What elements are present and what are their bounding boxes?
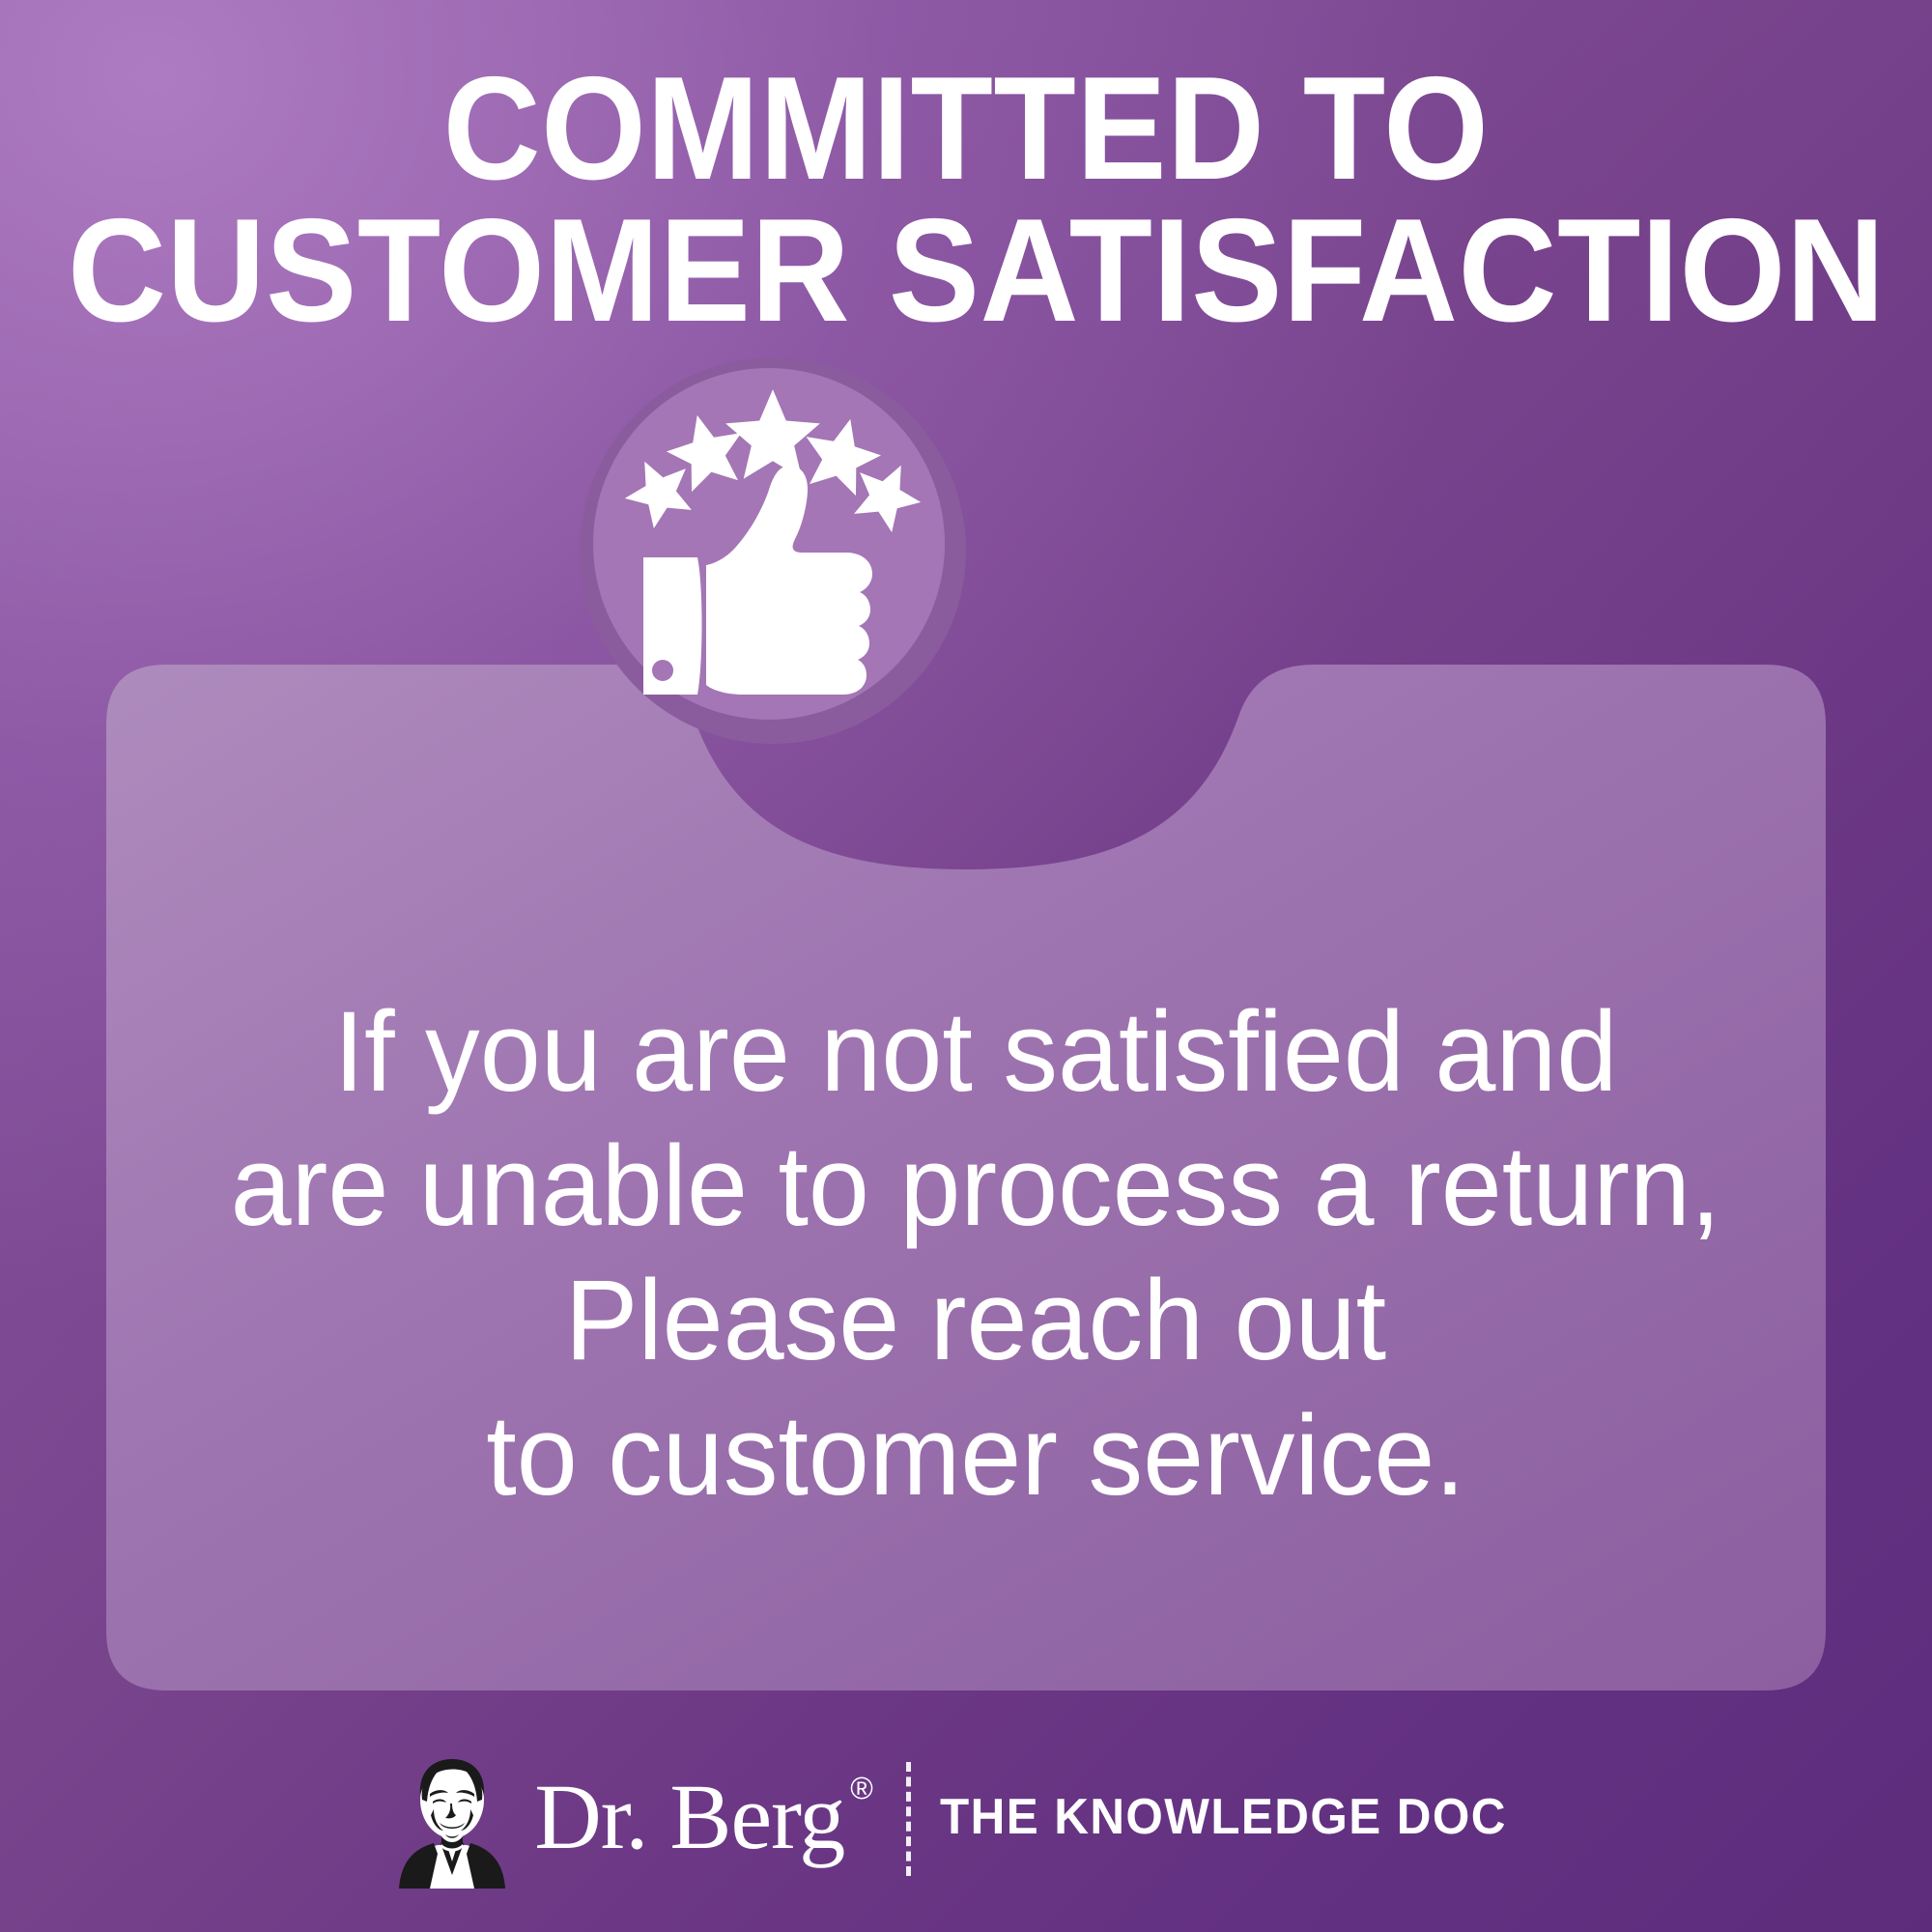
- poster-title: COMMITTED TO CUSTOMER SATISFACTION: [0, 58, 1932, 343]
- thumbs-up-five-stars-icon: [580, 357, 966, 744]
- body-line-1: If you are not satisfied and: [141, 985, 1810, 1120]
- body-copy: If you are not satisfied and are unable …: [106, 985, 1845, 1523]
- brand-tagline: THE KNOWLEDGE DOC: [940, 1788, 1507, 1846]
- body-line-3: Please reach out: [141, 1254, 1810, 1388]
- title-line-2: CUSTOMER SATISFACTION: [68, 200, 1864, 342]
- brand-name: Dr. Berg: [534, 1765, 844, 1868]
- promo-poster: COMMITTED TO CUSTOMER SATISFACTION: [0, 0, 1932, 1932]
- body-line-4: to customer service.: [141, 1389, 1810, 1523]
- title-line-1: COMMITTED TO: [77, 58, 1855, 200]
- body-line-2: are unable to process a return,: [141, 1120, 1810, 1254]
- brand-wordmark: Dr. Berg®: [534, 1771, 867, 1863]
- registered-trademark-icon: ®: [850, 1771, 873, 1805]
- cuff-button: [652, 660, 673, 681]
- brand-footer: Dr. Berg® THE KNOWLEDGE DOC: [0, 1739, 1932, 1903]
- dr-berg-portrait-icon: [395, 1753, 509, 1889]
- footer-divider: [906, 1762, 911, 1876]
